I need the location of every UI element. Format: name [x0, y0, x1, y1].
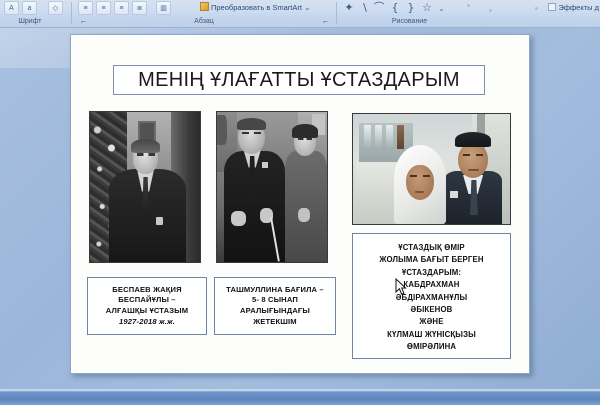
align-left-button[interactable]: ≡ — [78, 1, 93, 15]
paragraph-dialog-launcher[interactable]: ⌐ — [321, 17, 330, 26]
caption-line: АЛҒАШҚЫ ҰСТАЗЫМ — [106, 306, 188, 317]
shape-styles-dot-1 — [467, 4, 470, 7]
photo-teacher-1[interactable] — [89, 111, 201, 263]
photo2-woman-hand — [298, 208, 310, 222]
font-increase-button[interactable]: A — [4, 1, 19, 15]
photo-teacher-3[interactable] — [352, 113, 511, 225]
caption-line: ЖОЛЫМА БАҒЫТ БЕРГЕН — [379, 254, 483, 266]
photo3-bottle-1 — [364, 125, 371, 149]
photo1-hair — [131, 139, 160, 153]
caption-line: КАБДРАХМАН — [403, 279, 459, 291]
photo3-woman-face — [406, 165, 434, 200]
ribbon: A a ◇ Шрифт ⌐ ≡ ≡ ≡ ≣ ▥ Преобразовать в … — [0, 0, 600, 28]
columns-icon: ▥ — [159, 5, 168, 13]
photo2-woman-hair — [292, 124, 317, 138]
caption-line: БЕСПАЙҰЛЫ – — [118, 295, 175, 306]
page-title: МЕНІҢ ҰЛАҒАТТЫ ҰСТАЗДАРЫМ — [138, 69, 460, 92]
photo3-woman-mouth — [415, 191, 424, 193]
shape-brace-right-icon[interactable]: } — [405, 1, 417, 15]
photo3-woman-eyes — [410, 175, 430, 178]
caption-tashmullina[interactable]: ТАШМУЛЛИНА БАҒИЛА – 5- 8 СЫНАП АРАЛЫҒЫНД… — [214, 277, 336, 335]
chevron-down-icon: ⌄ — [304, 3, 310, 12]
caption-line: ЖӘНЕ — [419, 316, 443, 328]
shape-effects-icon — [548, 3, 556, 11]
caption-line: КҮЛМАШ ЖҮНІСҚЫЗЫ — [387, 329, 476, 341]
shape-styles-dot-2 — [489, 9, 492, 12]
justify-icon: ≣ — [135, 5, 144, 13]
caption-line: ТАШМУЛЛИНА БАҒИЛА – — [226, 285, 324, 296]
photo1-lapel-badge — [156, 217, 163, 225]
photo2-man-badge — [262, 162, 268, 168]
caption-line: АРАЛЫҒЫНДАҒЫ — [240, 306, 310, 317]
caption-line-years: 1927-2018 ж.ж. — [119, 317, 175, 328]
shape-styles-dot-3 — [535, 7, 538, 10]
caption-line: ҰСТАЗДАРЫМ: — [402, 267, 461, 279]
caption-line: ӨМІРӘЛИНА — [407, 341, 456, 353]
font-decrease-icon: a — [25, 5, 34, 13]
align-right-button[interactable]: ≡ — [114, 1, 129, 15]
photo3-man-eyes — [463, 154, 483, 157]
align-center-button[interactable]: ≡ — [96, 1, 111, 15]
paragraph-group-controls: ≡ ≡ ≡ ≣ ▥ Преобразовать в SmartArt ⌄ — [74, 0, 334, 16]
shape-star4-icon[interactable]: ✦ — [343, 1, 355, 15]
caption-line: ЖЕТЕКШІМ — [253, 317, 297, 328]
slide-title-box[interactable]: МЕНІҢ ҰЛАҒАТТЫ ҰСТАЗДАРЫМ — [113, 65, 485, 95]
photo2-woman-jacket — [285, 151, 327, 262]
paragraph-group: ≡ ≡ ≡ ≣ ▥ Преобразовать в SmartArt ⌄ Абз… — [74, 0, 334, 27]
shape-star5-icon[interactable]: ☆ — [421, 1, 433, 15]
caption-line: 5- 8 СЫНАП — [252, 295, 298, 306]
drawing-group: ✦ \ ⌒ { } ☆ ⌄ Эффекты д Рисование — [339, 0, 600, 27]
photo3-man-skullcap — [455, 132, 491, 147]
paragraph-group-label: Абзац — [74, 16, 334, 27]
photo1-eyes — [137, 153, 155, 156]
photo3-bottle-3 — [386, 125, 393, 149]
photo3-man-badge — [450, 191, 458, 198]
caption-line: ҰСТАЗДЫҚ ӨМІР — [398, 242, 465, 254]
align-right-icon: ≡ — [117, 5, 126, 13]
caption-mentors[interactable]: ҰСТАЗДЫҚ ӨМІР ЖОЛЫМА БАҒЫТ БЕРГЕН ҰСТАЗД… — [352, 233, 511, 359]
font-decrease-button[interactable]: a — [22, 1, 37, 15]
status-bar — [0, 391, 600, 405]
slide-workspace[interactable]: МЕНІҢ ҰЛАҒАТТЫ ҰСТАЗДАРЫМ — [0, 28, 600, 405]
caption-line: ӘБДІРАХМАНҰЛЫ — [396, 292, 467, 304]
caption-line: БЕСПАЕВ ЖАҚИЯ — [112, 285, 181, 296]
photo3-man-face — [458, 143, 488, 178]
font-increase-icon: A — [7, 5, 16, 13]
photo3-bottle-4 — [397, 125, 404, 149]
caption-line: ӘБІКЕНОВ — [411, 304, 453, 316]
convert-to-smartart-button[interactable]: Преобразовать в SmartArt ⌄ — [200, 2, 310, 14]
shape-brace-left-icon[interactable]: { — [389, 1, 401, 15]
drawing-group-label: Рисование — [339, 16, 480, 27]
clear-format-button[interactable]: ◇ — [48, 1, 63, 15]
shape-effects-label: Эффекты д — [558, 3, 599, 12]
ribbon-divider-1 — [71, 2, 72, 24]
photo2-man-hair — [237, 118, 267, 130]
shape-arc-icon[interactable]: ⌒ — [373, 1, 385, 15]
photo3-bottle-2 — [375, 125, 382, 149]
caption-bespaev[interactable]: БЕСПАЕВ ЖАҚИЯ БЕСПАЙҰЛЫ – АЛҒАШҚЫ ҰСТАЗЫ… — [87, 277, 207, 335]
shape-line-icon[interactable]: \ — [359, 1, 371, 15]
shapes-more-button[interactable]: ⌄ — [437, 4, 446, 13]
convert-to-smartart-label: Преобразовать в SmartArt — [211, 3, 302, 12]
columns-button[interactable]: ▥ — [156, 1, 171, 15]
align-center-icon: ≡ — [99, 5, 108, 13]
photo3-cabinet — [356, 162, 397, 224]
eraser-icon: ◇ — [51, 5, 60, 13]
photo2-woman-eyes — [298, 138, 312, 140]
photo-teacher-2[interactable] — [216, 111, 328, 263]
justify-button[interactable]: ≣ — [132, 1, 147, 15]
ribbon-divider-2 — [336, 2, 337, 24]
shape-effects-button[interactable]: Эффекты д — [548, 2, 599, 14]
photo2-bystander-left — [217, 115, 227, 145]
drawing-group-controls: ✦ \ ⌒ { } ☆ ⌄ Эффекты д — [339, 0, 600, 16]
photo2-man-hand-left — [231, 211, 245, 226]
photo2-man-eyes — [242, 132, 261, 134]
align-left-icon: ≡ — [81, 5, 90, 13]
slide-canvas[interactable]: МЕНІҢ ҰЛАҒАТТЫ ҰСТАЗДАРЫМ — [70, 34, 530, 374]
photo3-man-mouth — [468, 169, 479, 171]
smartart-icon — [200, 2, 209, 11]
